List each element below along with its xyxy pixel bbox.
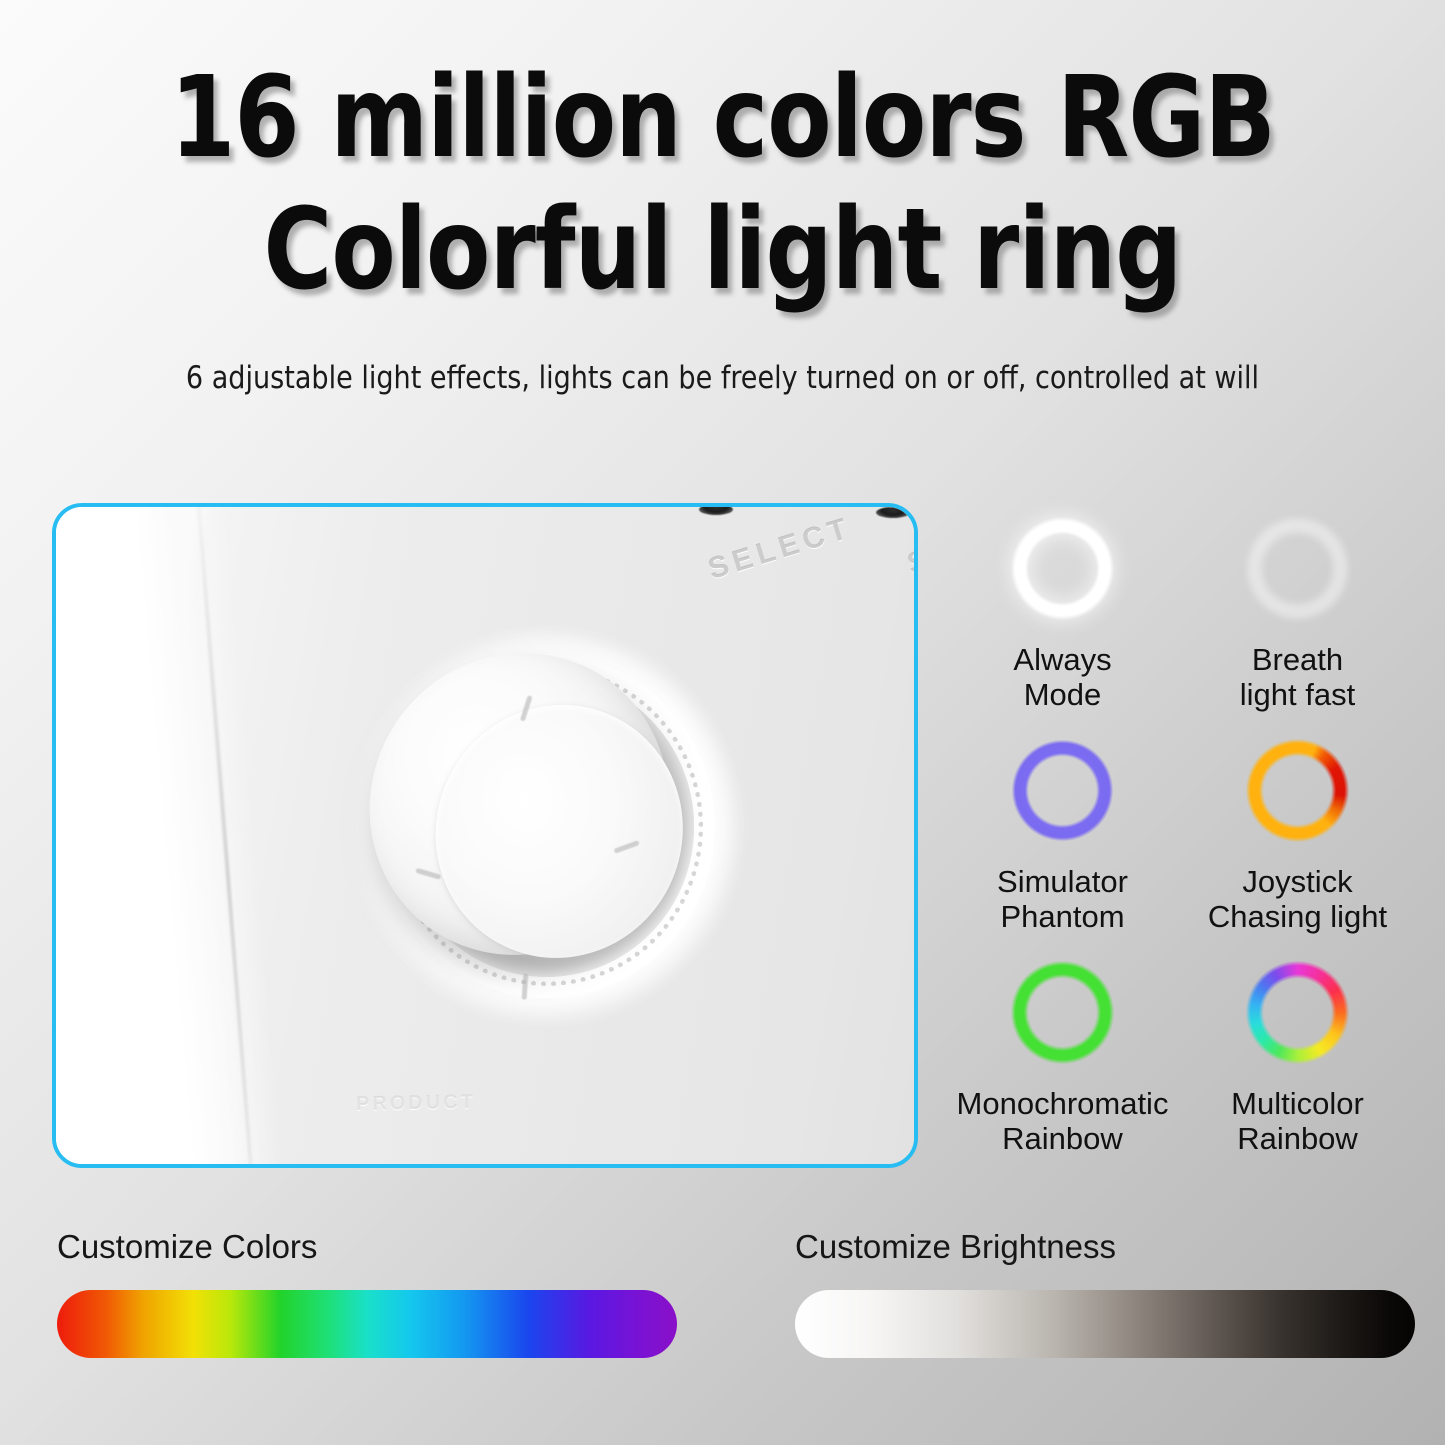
ring-box: [993, 498, 1133, 638]
mode-item-breath-light-fast[interactable]: Breath light fast: [1180, 498, 1415, 712]
controller-vent-slot: [699, 504, 733, 515]
light-mode-grid: Always Mode Breath light fast Simulator …: [945, 498, 1415, 1156]
customize-colors-group: Customize Colors: [57, 1228, 677, 1358]
controller-vent-slot: [876, 507, 910, 518]
mode-label: Simulator Phantom: [997, 864, 1128, 934]
product-photo: START SELECT S PRODUCT: [56, 507, 914, 1164]
mode-label: Monochromatic Rainbow: [957, 1086, 1169, 1156]
mode-label-line-2: Rainbow: [1231, 1121, 1364, 1156]
mode-label-line-2: Mode: [1013, 677, 1111, 712]
light-ring-icon-phantom: [996, 724, 1129, 857]
mode-item-monochromatic-rainbow[interactable]: Monochromatic Rainbow: [945, 942, 1180, 1156]
page-title: 16 million colors RGB Colorful light rin…: [51, 52, 1395, 316]
mode-item-always-mode[interactable]: Always Mode: [945, 498, 1180, 712]
mode-label-line-1: Joystick: [1208, 864, 1387, 899]
mode-item-joystick-chasing-light[interactable]: Joystick Chasing light: [1180, 720, 1415, 934]
page-subtitle: 6 adjustable light effects, lights can b…: [22, 360, 1424, 396]
ring-box: [1228, 942, 1368, 1082]
mode-label: Joystick Chasing light: [1208, 864, 1387, 934]
ring-box: [1228, 498, 1368, 638]
mode-item-multicolor-rainbow[interactable]: Multicolor Rainbow: [1180, 942, 1415, 1156]
customize-colors-title: Customize Colors: [57, 1228, 677, 1266]
light-ring-icon-breath: [1231, 502, 1364, 635]
ring-box: [1228, 720, 1368, 860]
brightness-slider[interactable]: [795, 1290, 1415, 1358]
light-ring-icon-monochromatic: [996, 946, 1129, 1079]
product-photo-panel: START SELECT S PRODUCT: [52, 503, 918, 1168]
mode-label: Multicolor Rainbow: [1231, 1086, 1364, 1156]
mode-label: Always Mode: [1013, 642, 1111, 712]
headline-line-2: Colorful light ring: [51, 184, 1395, 316]
mode-item-simulator-phantom[interactable]: Simulator Phantom: [945, 720, 1180, 934]
emboss-bottom-label: PRODUCT: [356, 1091, 476, 1116]
mode-label-line-2: Rainbow: [957, 1121, 1169, 1156]
mode-label-line-1: Always: [1013, 642, 1111, 677]
mode-label-line-2: Chasing light: [1208, 899, 1387, 934]
mode-label-line-1: Breath: [1240, 642, 1355, 677]
light-ring-icon-chasing: [1231, 724, 1364, 857]
mode-label-line-1: Simulator: [997, 864, 1128, 899]
joystick-cap-notch: [415, 868, 441, 880]
light-ring-icon-multicolor: [1231, 946, 1364, 1079]
ring-box: [993, 720, 1133, 860]
ring-box: [993, 942, 1133, 1082]
customize-brightness-title: Customize Brightness: [795, 1228, 1415, 1266]
mode-label-line-1: Monochromatic: [957, 1086, 1169, 1121]
mode-label-line-2: light fast: [1240, 677, 1355, 712]
headline-line-1: 16 million colors RGB: [170, 53, 1275, 183]
customize-brightness-group: Customize Brightness: [795, 1228, 1415, 1358]
mode-label-line-1: Multicolor: [1231, 1086, 1364, 1121]
mode-label: Breath light fast: [1240, 642, 1355, 712]
light-ring-icon-always: [996, 502, 1129, 635]
mode-label-line-2: Phantom: [997, 899, 1128, 934]
color-spectrum-slider[interactable]: [57, 1290, 677, 1358]
joystick-assembly: [331, 612, 761, 1062]
